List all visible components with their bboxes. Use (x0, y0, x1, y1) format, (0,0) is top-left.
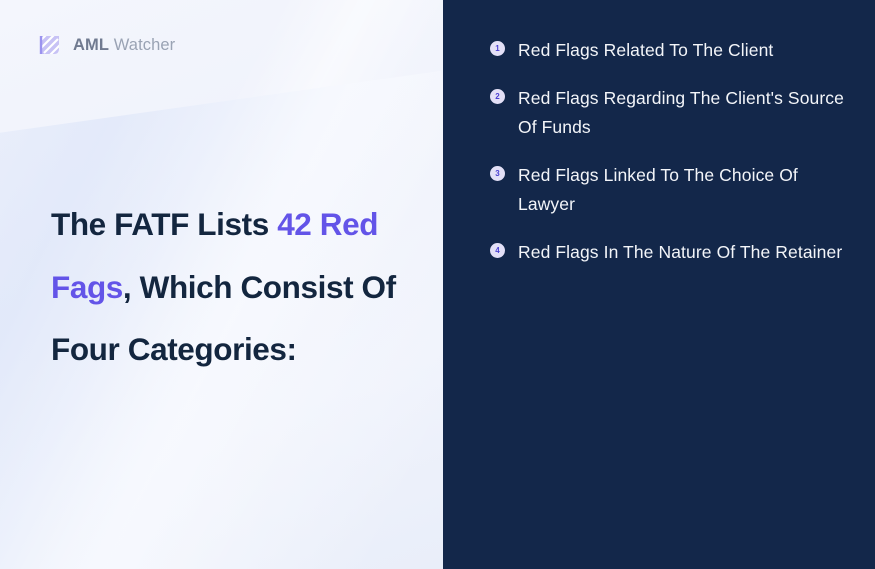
headline-part1: The FATF Lists (51, 206, 277, 242)
list-item-label: Red Flags Related To The Client (518, 36, 773, 65)
list-item: 1 Red Flags Related To The Client (490, 36, 850, 65)
left-panel: AML Watcher The FATF Lists 42 Red Fags, … (0, 0, 443, 569)
brand-name-light: Watcher (109, 36, 175, 54)
list-item: 2 Red Flags Regarding The Client's Sourc… (490, 84, 850, 142)
number-badge-icon: 3 (490, 166, 505, 181)
brand-name-bold: AML (73, 36, 109, 54)
right-panel: 1 Red Flags Related To The Client 2 Red … (443, 0, 875, 569)
list-item: 4 Red Flags In The Nature Of The Retaine… (490, 238, 850, 267)
list-item: 3 Red Flags Linked To The Choice Of Lawy… (490, 161, 850, 219)
list-item-label: Red Flags Regarding The Client's Source … (518, 84, 850, 142)
list-item-label: Red Flags Linked To The Choice Of Lawyer (518, 161, 850, 219)
number-badge-icon: 1 (490, 41, 505, 56)
red-flags-list: 1 Red Flags Related To The Client 2 Red … (490, 36, 850, 286)
page-title: The FATF Lists 42 Red Fags, Which Consis… (51, 193, 421, 381)
brand-wordmark: AML Watcher (73, 37, 175, 54)
number-badge-icon: 2 (490, 89, 505, 104)
brand-logo[interactable]: AML Watcher (38, 33, 175, 57)
list-item-label: Red Flags In The Nature Of The Retainer (518, 238, 842, 267)
slide-root: AML Watcher The FATF Lists 42 Red Fags, … (0, 0, 875, 569)
striped-square-logo-icon (38, 33, 62, 57)
number-badge-icon: 4 (490, 243, 505, 258)
